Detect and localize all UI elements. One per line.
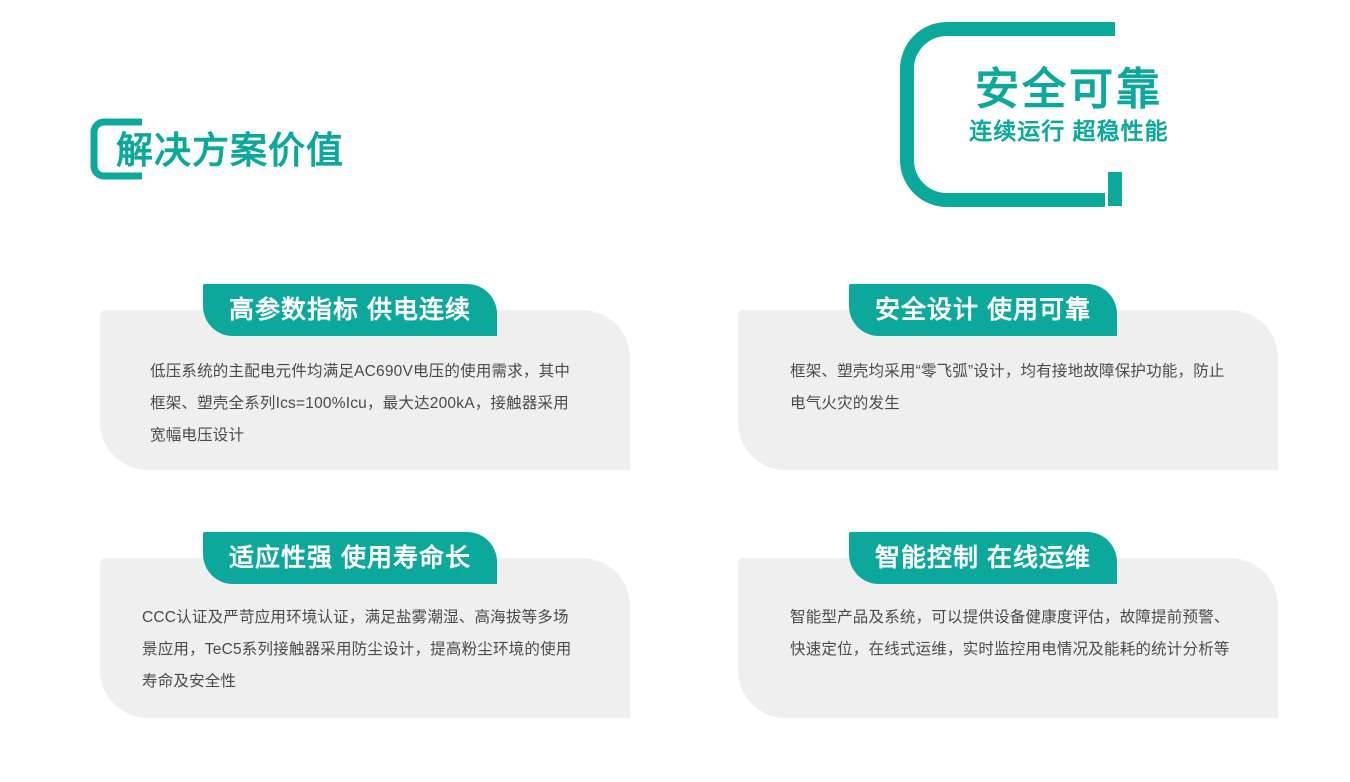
feature-card-tag-label: 智能控制 在线运维 — [875, 546, 1091, 571]
feature-card-tag-label: 安全设计 使用可靠 — [875, 298, 1091, 323]
feature-card-body: 低压系统的主配电元件均满足AC690V电压的使用需求，其中框架、塑壳全系列Ics… — [150, 356, 580, 451]
feature-card[interactable]: 智能控制 在线运维 智能型产品及系统，可以提供设备健康度评估，故障提前预警、快速… — [738, 558, 1278, 718]
feature-card-tag: 安全设计 使用可靠 — [849, 284, 1117, 336]
brand-title: 安全可靠 — [900, 66, 1190, 114]
brand-subtitle: 连续运行 超稳性能 — [900, 118, 1190, 146]
feature-card[interactable]: 高参数指标 供电连续 低压系统的主配电元件均满足AC690V电压的使用需求，其中… — [100, 310, 630, 470]
feature-card-tag-label: 适应性强 使用寿命长 — [229, 546, 471, 571]
feature-card-body: 框架、塑壳均采用“零飞弧”设计，均有接地故障保护功能，防止电气火灾的发生 — [790, 356, 1238, 420]
slide-canvas: 解决方案价值 安全可靠 连续运行 超稳性能 高参数指标 供电连续 低压系统的主配… — [0, 0, 1350, 782]
feature-card-body: 智能型产品及系统，可以提供设备健康度评估，故障提前预警、快速定位，在线式运维，实… — [790, 602, 1240, 666]
feature-card-tag: 适应性强 使用寿命长 — [203, 532, 497, 584]
feature-card-tag: 高参数指标 供电连续 — [203, 284, 497, 336]
feature-card[interactable]: 适应性强 使用寿命长 CCC认证及严苛应用环境认证，满足盐雾潮湿、高海拔等多场景… — [100, 558, 630, 718]
brand-badge: 安全可靠 连续运行 超稳性能 — [900, 22, 1190, 207]
feature-card-body: CCC认证及严苛应用环境认证，满足盐雾潮湿、高海拔等多场景应用，TeC5系列接触… — [142, 602, 584, 697]
feature-card-tag-label: 高参数指标 供电连续 — [229, 298, 471, 323]
feature-card[interactable]: 安全设计 使用可靠 框架、塑壳均采用“零飞弧”设计，均有接地故障保护功能，防止电… — [738, 310, 1278, 470]
brand-text-group: 安全可靠 连续运行 超稳性能 — [900, 66, 1190, 145]
feature-card-tag: 智能控制 在线运维 — [849, 532, 1117, 584]
page-title-text: 解决方案价值 — [116, 132, 344, 169]
page-title: 解决方案价值 — [90, 112, 344, 188]
